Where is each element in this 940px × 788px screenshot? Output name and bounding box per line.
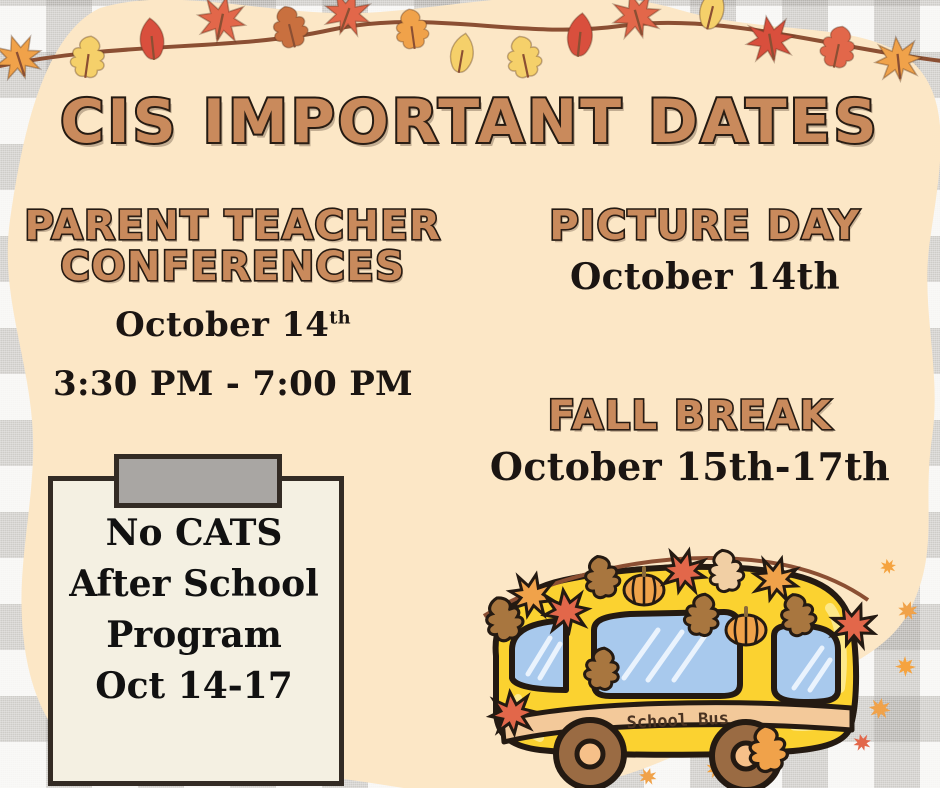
clipboard-line-2: After School bbox=[51, 559, 337, 610]
ptc-heading-line1: PARENT TEACHER bbox=[8, 206, 458, 247]
scattered-leaf-9 bbox=[895, 598, 920, 622]
clipboard-line-4: Oct 14-17 bbox=[51, 661, 337, 712]
poster-canvas: CIS IMPORTANT DATES PARENT TEACHER CONFE… bbox=[0, 0, 940, 788]
picture-day-date: October 14th bbox=[480, 257, 930, 298]
school-bus-illustration: School Bus bbox=[478, 538, 878, 788]
ptc-heading-line2: CONFERENCES bbox=[8, 247, 458, 288]
ptc-time: 3:30 PM - 7:00 PM bbox=[8, 365, 458, 404]
picture-day-heading: PICTURE DAY bbox=[480, 206, 930, 247]
ptc-heading: PARENT TEACHER CONFERENCES bbox=[8, 206, 458, 288]
ptc-date-text: October 14 bbox=[115, 305, 329, 345]
fall-break-heading: FALL BREAK bbox=[440, 396, 940, 437]
fall-break-date: October 15th-17th bbox=[440, 445, 940, 489]
scattered-leaf-3 bbox=[892, 653, 920, 681]
scattered-leaf-10 bbox=[879, 557, 898, 575]
event-fall-break: FALL BREAK October 15th-17th bbox=[440, 396, 940, 488]
clipboard-clip bbox=[114, 454, 282, 508]
event-parent-teacher-conferences: PARENT TEACHER CONFERENCES October 14th … bbox=[8, 206, 458, 404]
ptc-date-ordinal: th bbox=[329, 307, 351, 328]
ptc-date: October 14th bbox=[8, 306, 458, 345]
clipboard-line-1: No CATS bbox=[51, 508, 337, 559]
event-picture-day: PICTURE DAY October 14th bbox=[480, 206, 930, 298]
page-title: CIS IMPORTANT DATES bbox=[0, 92, 940, 152]
clipboard-text: No CATS After School Program Oct 14-17 bbox=[51, 508, 337, 712]
clipboard-notice: No CATS After School Program Oct 14-17 bbox=[46, 452, 350, 788]
clipboard-line-3: Program bbox=[51, 610, 337, 661]
